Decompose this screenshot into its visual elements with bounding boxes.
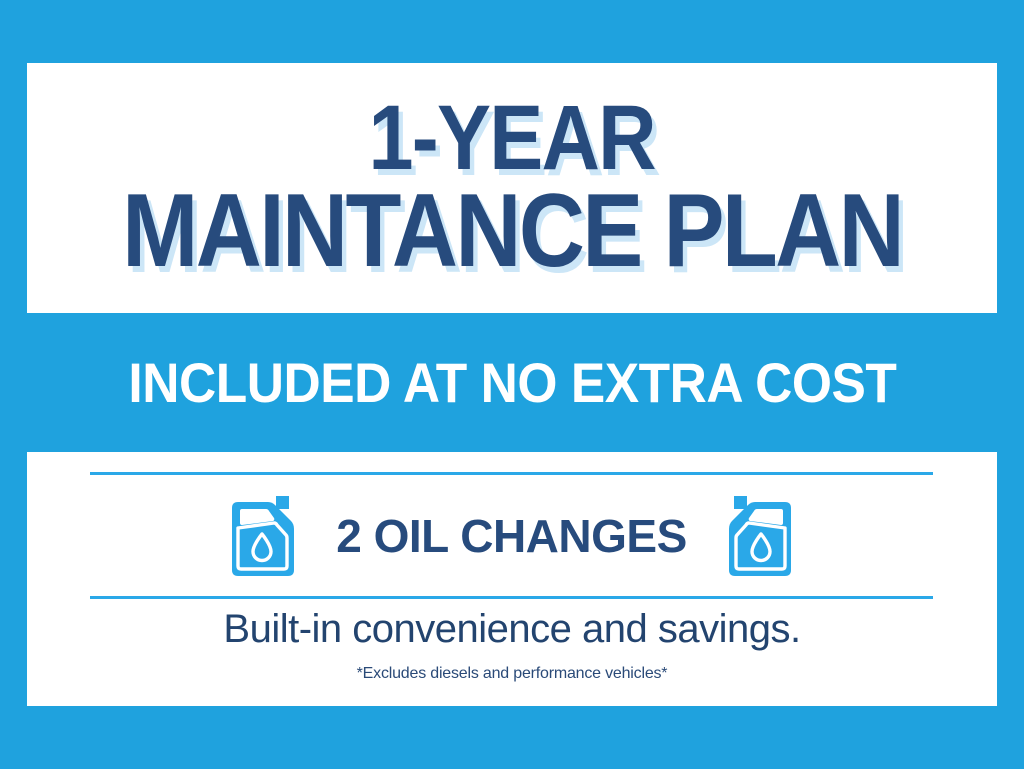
promo-poster: 1-YEAR MAINTANCE PLAN INCLUDED AT NO EXT… xyxy=(0,0,1024,769)
divider-bottom xyxy=(90,596,933,599)
disclaimer: *Excludes diesels and performance vehicl… xyxy=(27,665,997,683)
tagline: Built-in convenience and savings. xyxy=(27,607,997,652)
details-panel: 2 OIL CHANGES Built-in convenience and s… xyxy=(27,452,997,706)
oil-jug-icon-left xyxy=(224,494,298,578)
oil-jug-icon-right xyxy=(725,494,799,578)
subtitle-band: INCLUDED AT NO EXTRA COST xyxy=(27,313,997,452)
headline-line-2: MAINTANCE PLAN xyxy=(122,184,902,280)
subtitle-text: INCLUDED AT NO EXTRA COST xyxy=(128,350,896,415)
feature-label: 2 OIL CHANGES xyxy=(336,509,687,563)
headline-panel: 1-YEAR MAINTANCE PLAN xyxy=(27,63,997,313)
headline-line-1: 1-YEAR xyxy=(369,96,655,181)
feature-row: 2 OIL CHANGES xyxy=(90,475,933,596)
